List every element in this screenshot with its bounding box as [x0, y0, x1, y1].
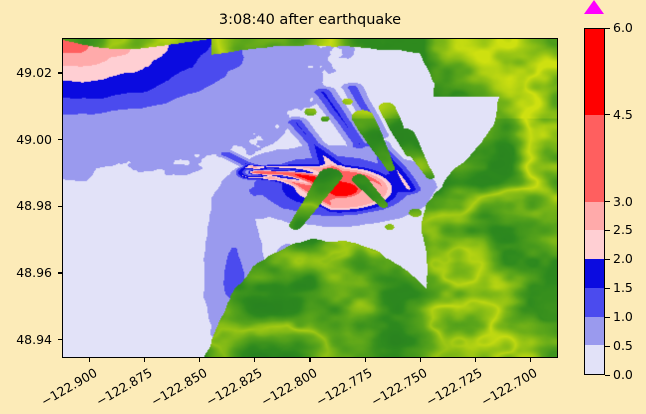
colorbar-band	[585, 317, 604, 346]
colorbar-tick-label: 4.5	[613, 107, 633, 122]
colorbar-band	[585, 288, 604, 317]
y-tick-label: 48.98	[0, 198, 52, 213]
y-tick-mark	[58, 139, 62, 140]
map-axes	[62, 38, 558, 358]
colorbar-tick-mark	[605, 114, 610, 115]
colorbar-extend-arrow-icon	[584, 0, 604, 14]
colorbar-band	[585, 345, 604, 374]
figure-canvas: 3:08:40 after earthquake 48.9448.9648.98…	[0, 0, 646, 414]
colorbar-tick-label: 2.0	[613, 251, 633, 266]
colorbar-tick-label: 0.0	[613, 367, 633, 382]
x-tick-mark	[420, 358, 421, 362]
colorbar-tick-label: 6.0	[613, 20, 633, 35]
chart-title: 3:08:40 after earthquake	[62, 12, 558, 28]
x-tick-label: −122.850	[148, 365, 209, 409]
colorbar-band	[585, 202, 604, 231]
x-tick-label: −122.725	[424, 365, 485, 409]
colorbar-tick-mark	[605, 288, 610, 289]
x-tick-mark	[475, 358, 476, 362]
colorbar-tick-mark	[605, 375, 610, 376]
x-tick-label: −122.875	[93, 365, 154, 409]
x-tick-mark	[530, 358, 531, 362]
x-tick-mark	[199, 358, 200, 362]
y-tick-label: 49.02	[0, 65, 52, 80]
colorbar-tick-label: 1.5	[613, 280, 633, 295]
colorbar-band	[585, 115, 604, 201]
y-tick-mark	[58, 272, 62, 273]
colorbar	[584, 28, 605, 375]
x-tick-label: −122.750	[369, 365, 430, 409]
x-tick-mark	[254, 358, 255, 362]
colorbar-tick-label: 0.5	[613, 338, 633, 353]
colorbar-tick-mark	[605, 317, 610, 318]
y-tick-mark	[58, 339, 62, 340]
x-tick-mark	[365, 358, 366, 362]
colorbar-tick-label: 3.0	[613, 194, 633, 209]
colorbar-tick-mark	[605, 28, 610, 29]
colorbar-band	[585, 29, 604, 115]
x-tick-label: −122.700	[479, 365, 540, 409]
colorbar-tick-mark	[605, 346, 610, 347]
x-tick-label: −122.775	[313, 365, 374, 409]
tsunami-heatmap	[63, 39, 557, 357]
colorbar-band	[585, 230, 604, 259]
colorbar-tick-mark	[605, 259, 610, 260]
y-tick-mark	[58, 72, 62, 73]
y-tick-label: 48.94	[0, 332, 52, 347]
y-tick-label: 48.96	[0, 265, 52, 280]
x-tick-label: −122.825	[203, 365, 264, 409]
colorbar-tick-label: 2.5	[613, 222, 633, 237]
x-tick-mark	[89, 358, 90, 362]
colorbar-tick-mark	[605, 201, 610, 202]
colorbar-tick-mark	[605, 230, 610, 231]
y-tick-label: 49.00	[0, 132, 52, 147]
x-tick-mark	[309, 358, 310, 362]
colorbar-band	[585, 259, 604, 288]
x-tick-label: −122.800	[258, 365, 319, 409]
x-tick-label: −122.900	[38, 365, 99, 409]
y-tick-mark	[58, 206, 62, 207]
x-tick-mark	[144, 358, 145, 362]
colorbar-tick-label: 1.0	[613, 309, 633, 324]
